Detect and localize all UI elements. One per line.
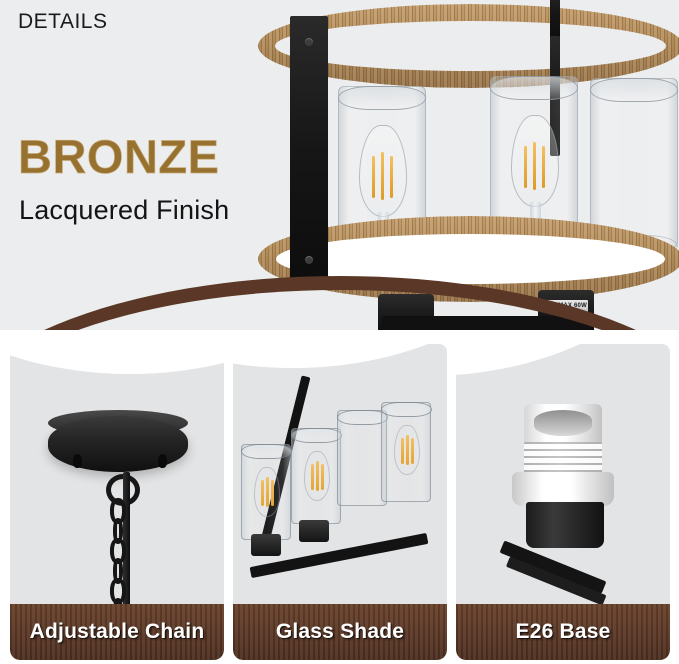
e26-socket-interior <box>534 410 592 436</box>
bulb-filament <box>524 146 527 188</box>
shade-rim <box>337 410 388 425</box>
glass-shade <box>337 410 387 506</box>
edison-bulb <box>511 115 559 207</box>
bulb-filament <box>316 461 319 491</box>
socket-rating-label: E26 MAX 60W <box>544 300 588 312</box>
bracket-screw <box>305 38 313 46</box>
chandelier-illustration: E26 MAX 60W <box>250 0 679 340</box>
bulb-filament <box>381 152 384 200</box>
panel-caption-text: Adjustable Chain <box>30 620 205 644</box>
lower-ring-inner-cutout <box>276 234 665 284</box>
panel-caption-text: Glass Shade <box>276 620 404 644</box>
feature-panel-e26-base[interactable]: E26 Base <box>456 344 670 660</box>
shade-rim <box>590 78 678 102</box>
glass-shade <box>241 444 291 540</box>
edison-bulb <box>254 467 280 517</box>
hero-section: DETAILS BRONZE Lacquered Finish <box>0 0 679 340</box>
glass-shade <box>291 428 341 524</box>
upper-ring-inner-cutout <box>275 21 666 71</box>
panel-caption-bar: Adjustable Chain <box>10 604 224 660</box>
bulb-filament <box>321 464 324 490</box>
shade-rim <box>381 402 432 417</box>
bracket-screw <box>305 256 313 264</box>
bulb-socket-housing <box>251 534 281 556</box>
panel-caption-bar: E26 Base <box>456 604 670 660</box>
bulb-filament <box>411 438 414 464</box>
details-eyebrow-label: DETAILS <box>18 10 107 34</box>
canopy-screw-hole <box>73 454 82 468</box>
bulb-filament <box>271 480 274 506</box>
bulb-filament <box>401 438 404 464</box>
bulb-filament <box>390 156 393 198</box>
socket-support-arm <box>382 316 592 331</box>
lacquered-finish-subhead: Lacquered Finish <box>19 195 229 226</box>
glass-shade <box>381 402 431 502</box>
panel-arched-top-mask <box>233 344 447 368</box>
e26-black-base <box>526 502 604 548</box>
feature-panel-glass-shade[interactable]: Glass Shade <box>233 344 447 660</box>
adjustable-chain <box>106 464 130 614</box>
canopy-screw-hole <box>158 454 167 468</box>
panel-arched-top-mask <box>10 344 224 374</box>
bulb-filament <box>542 146 545 188</box>
bulb-filament <box>261 480 264 506</box>
vertical-metal-bracket <box>290 16 328 286</box>
edison-bulb <box>304 451 330 501</box>
bulb-filament <box>406 435 409 465</box>
bronze-headline: BRONZE <box>18 133 219 180</box>
bulb-filament <box>372 156 375 198</box>
bulb-filament <box>311 464 314 490</box>
glass-shade <box>590 78 678 248</box>
panel-arched-top-mask <box>456 344 670 376</box>
feature-panel-adjustable-chain[interactable]: Adjustable Chain <box>10 344 224 660</box>
shade-rim <box>241 444 292 459</box>
product-detail-image: DETAILS BRONZE Lacquered Finish <box>0 0 679 664</box>
edison-bulb <box>359 125 407 217</box>
panel-caption-bar: Glass Shade <box>233 604 447 660</box>
panel-caption-text: E26 Base <box>515 620 610 644</box>
bulb-socket-housing <box>299 520 329 542</box>
feature-panels: Adjustable Chain <box>0 330 679 664</box>
shade-rim <box>490 76 578 100</box>
shade-rim <box>291 428 342 443</box>
bulb-filament <box>533 142 536 190</box>
e26-socket-flange <box>512 472 614 506</box>
bulb-filament <box>266 477 269 507</box>
edison-bulb <box>394 425 420 475</box>
shade-rim <box>338 86 426 110</box>
